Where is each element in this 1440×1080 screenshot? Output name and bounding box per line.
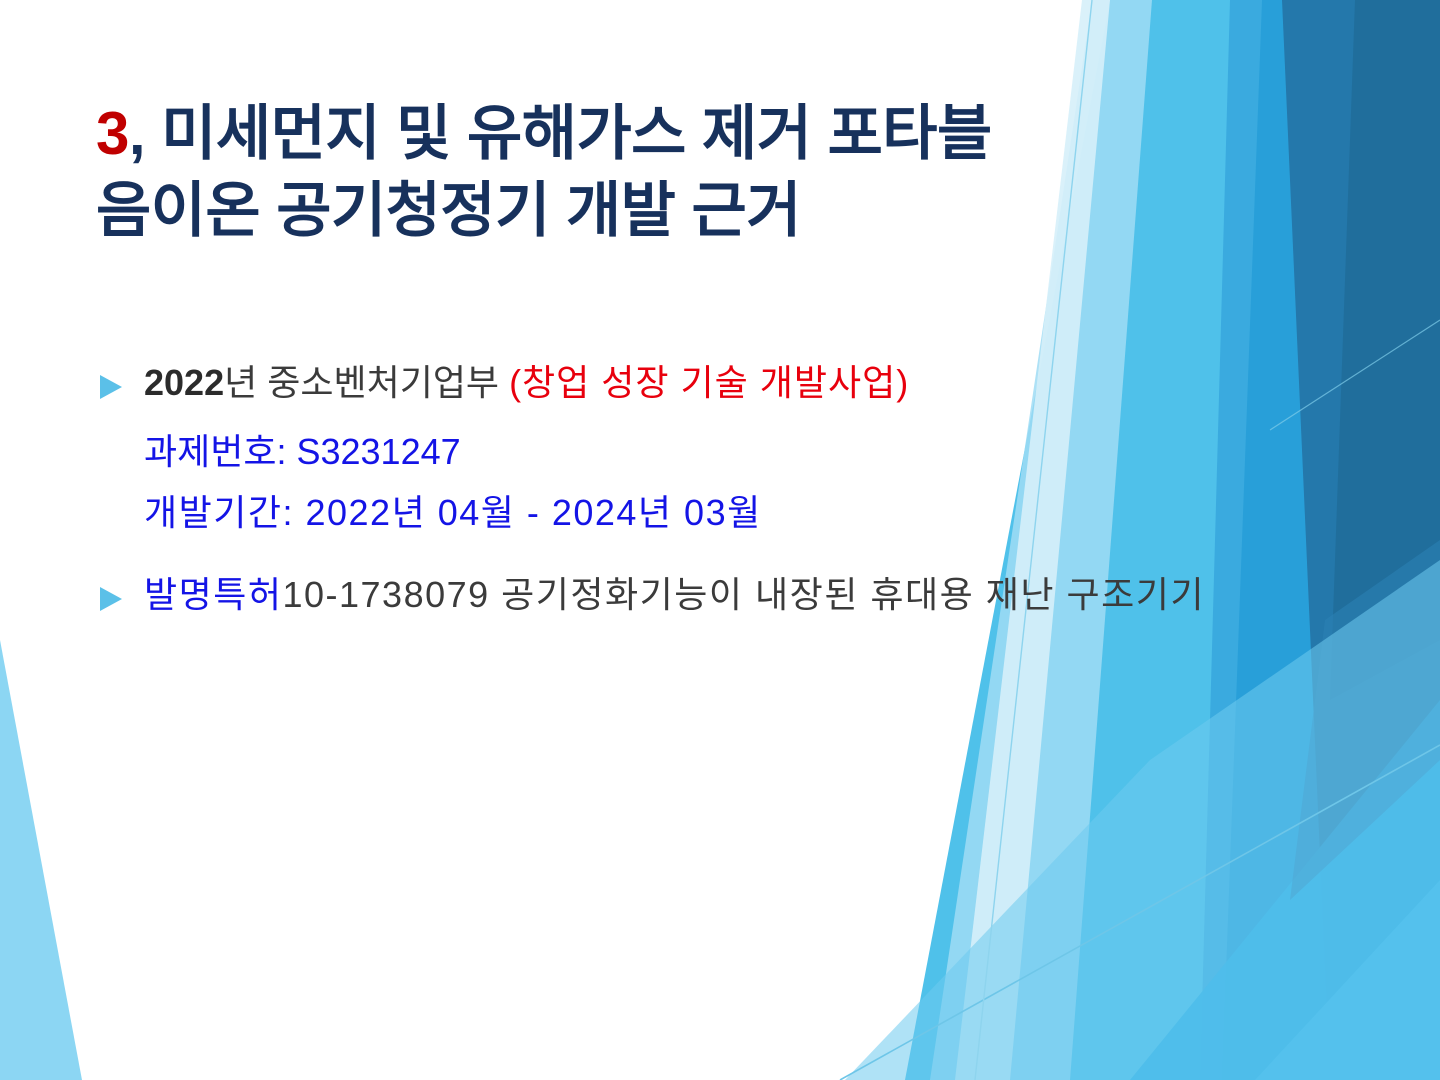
body-content: 2022년 중소벤처기업부 (창업 성장 기술 개발사업) 과제번호: S323… <box>96 360 1336 625</box>
bullet-1-seg-2: 년 중소벤처기업부 <box>224 362 509 403</box>
slide-canvas: 3, 미세먼지 및 유해가스 제거 포타블 음이온 공기청정기 개발 근거 20… <box>0 0 1440 1080</box>
bullet-1-seg-3: (창업 성장 기술 개발사업) <box>509 362 909 403</box>
bullet-1-text: 2022년 중소벤처기업부 (창업 성장 기술 개발사업) <box>144 360 1336 407</box>
subline-project-number: 과제번호: S3231247 <box>144 429 1336 476</box>
title-number: 3 <box>96 100 129 167</box>
list-item: 2022년 중소벤처기업부 (창업 성장 기술 개발사업) <box>96 360 1336 407</box>
title-line-1: 3, 미세먼지 및 유해가스 제거 포타블 <box>96 96 1206 173</box>
bullet-2-seg-2: 10-1738079 공기정화기능이 내장된 휴대용 재난 구조기기 <box>282 574 1204 615</box>
bullet-1-seg-1: 2022 <box>144 362 224 403</box>
list-item: 발명특허10-1738079 공기정화기능이 내장된 휴대용 재난 구조기기 <box>96 572 1336 619</box>
slide-content: 3, 미세먼지 및 유해가스 제거 포타블 음이온 공기청정기 개발 근거 20… <box>0 0 1440 1080</box>
title-line-1-text: , 미세먼지 및 유해가스 제거 포타블 <box>129 100 992 167</box>
subline-development-period: 개발기간: 2022년 04월 - 2024년 03월 <box>144 490 1336 537</box>
triangle-right-icon <box>96 572 130 614</box>
bullet-2-text: 발명특허10-1738079 공기정화기능이 내장된 휴대용 재난 구조기기 <box>144 572 1336 619</box>
page-title: 3, 미세먼지 및 유해가스 제거 포타블 음이온 공기청정기 개발 근거 <box>96 96 1206 250</box>
title-line-2: 음이온 공기청정기 개발 근거 <box>96 173 1206 250</box>
bullet-2-seg-1: 발명특허 <box>144 574 282 615</box>
triangle-right-icon <box>96 360 130 402</box>
